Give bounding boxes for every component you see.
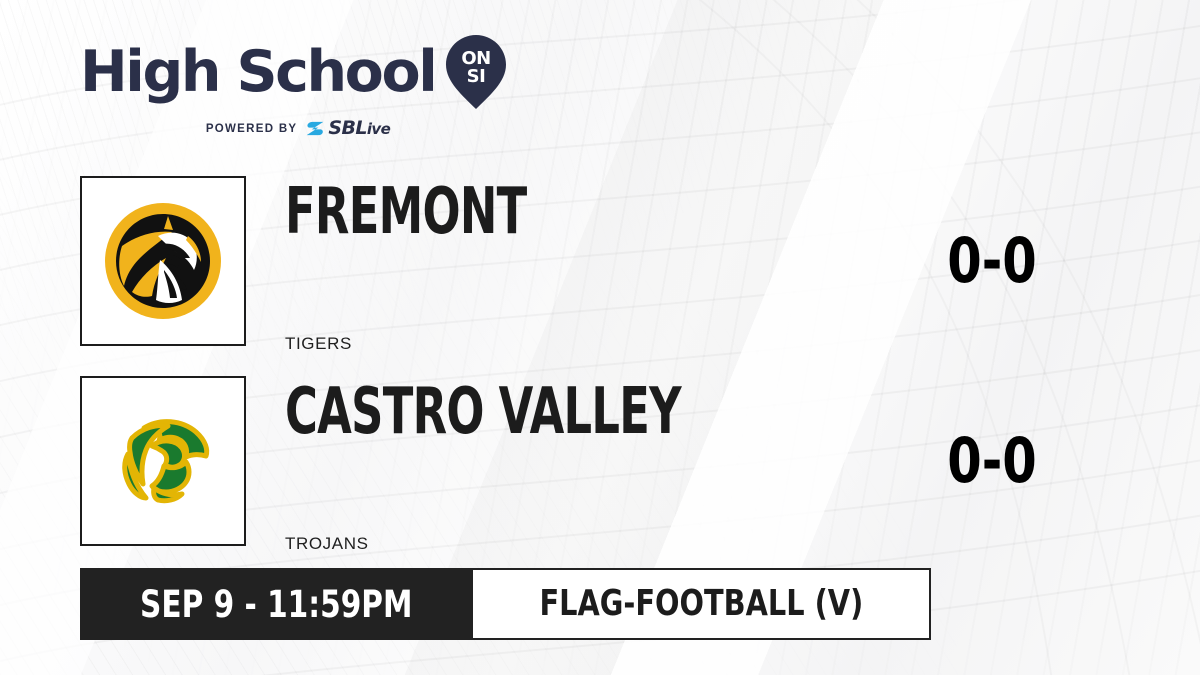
team-logo-home (80, 176, 246, 346)
team-mascot-home: TIGERS (285, 334, 352, 354)
powered-by-row: POWERED BY SBLive (80, 119, 510, 138)
team-score-home: 0-0 (947, 230, 1037, 292)
game-datetime-label: SEP 9 - 11:59PM (140, 586, 412, 623)
sblive-wordmark: SBLive (328, 119, 390, 138)
sblive-upper: SBL (328, 117, 366, 139)
brand-title-row: High School ON SI (80, 34, 510, 110)
score-container-home: 0-0 (848, 176, 1048, 346)
team-row-away[interactable]: CASTRO VALLEY TROJANS 0-0 (80, 376, 1120, 546)
brand-wordmark: High School (80, 45, 435, 99)
sblive-s-mark-icon (305, 120, 325, 137)
team-logo-away (80, 376, 246, 546)
team-row-home[interactable]: FREMONT TIGERS 0-0 (80, 176, 1120, 346)
tiger-head-circle-icon (102, 200, 224, 322)
team-name-away: CASTRO VALLEY (285, 380, 681, 444)
game-sport-chip[interactable]: FLAG-FOOTBALL (V) (473, 568, 932, 640)
brand-lockup[interactable]: High School ON SI POWERED BY SBLive (80, 34, 510, 138)
trojan-helmet-icon (102, 400, 224, 522)
game-sport-label: FLAG-FOOTBALL (V) (539, 586, 863, 622)
team-score-away: 0-0 (947, 430, 1037, 492)
powered-by-label: POWERED BY (206, 123, 298, 135)
on-si-pin-icon: ON SI (445, 34, 507, 110)
sblive-logo: SBLive (305, 119, 390, 138)
score-container-away: 0-0 (848, 376, 1048, 546)
sblive-lower: ive (367, 120, 390, 138)
game-info-bar: SEP 9 - 11:59PM FLAG-FOOTBALL (V) (80, 568, 931, 640)
team-mascot-away: TROJANS (285, 534, 369, 554)
svg-text:SI: SI (467, 66, 486, 87)
team-name-home: FREMONT (285, 180, 527, 244)
game-scorecard: High School ON SI POWERED BY SBLive (0, 0, 1200, 675)
game-datetime-chip[interactable]: SEP 9 - 11:59PM (80, 568, 473, 640)
